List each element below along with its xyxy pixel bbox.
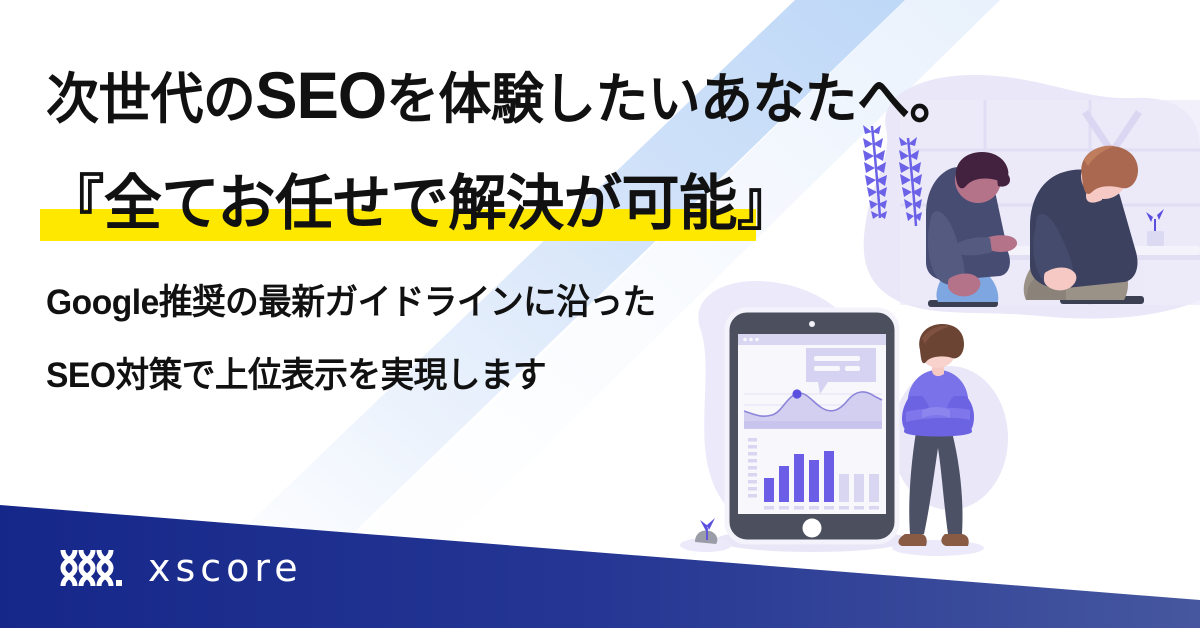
- body-line-2: SEO対策で上位表示を実現します: [46, 358, 776, 393]
- copy-block: 次世代のSEOを体験したいあなたへ。 『全てお任せで解決が可能』 Google推…: [46, 62, 806, 431]
- seo-promo-banner: 次世代のSEOを体験したいあなたへ。 『全てお任せで解決が可能』 Google推…: [0, 0, 1200, 628]
- body-line-1: Google推奨の最新ガイドラインに沿った: [46, 285, 776, 320]
- xscore-helix-mark-icon: [58, 548, 132, 588]
- subline-wrapper: 『全てお任せで解決が可能』: [46, 172, 818, 235]
- subline: 『全てお任せで解決が可能』: [46, 172, 795, 235]
- body-copy: Google推奨の最新ガイドラインに沿った SEO対策で上位表示を実現します: [46, 285, 806, 393]
- headline-prefix: 次世代の: [46, 68, 255, 130]
- headline-suffix: を体験したいあなたへ。: [386, 68, 962, 130]
- brand-logo[interactable]: xscore: [58, 548, 303, 588]
- page-title: 次世代のSEOを体験したいあなたへ。: [46, 62, 776, 128]
- brand-wordmark: xscore: [148, 549, 303, 587]
- headline-emphasis: SEO: [255, 58, 386, 132]
